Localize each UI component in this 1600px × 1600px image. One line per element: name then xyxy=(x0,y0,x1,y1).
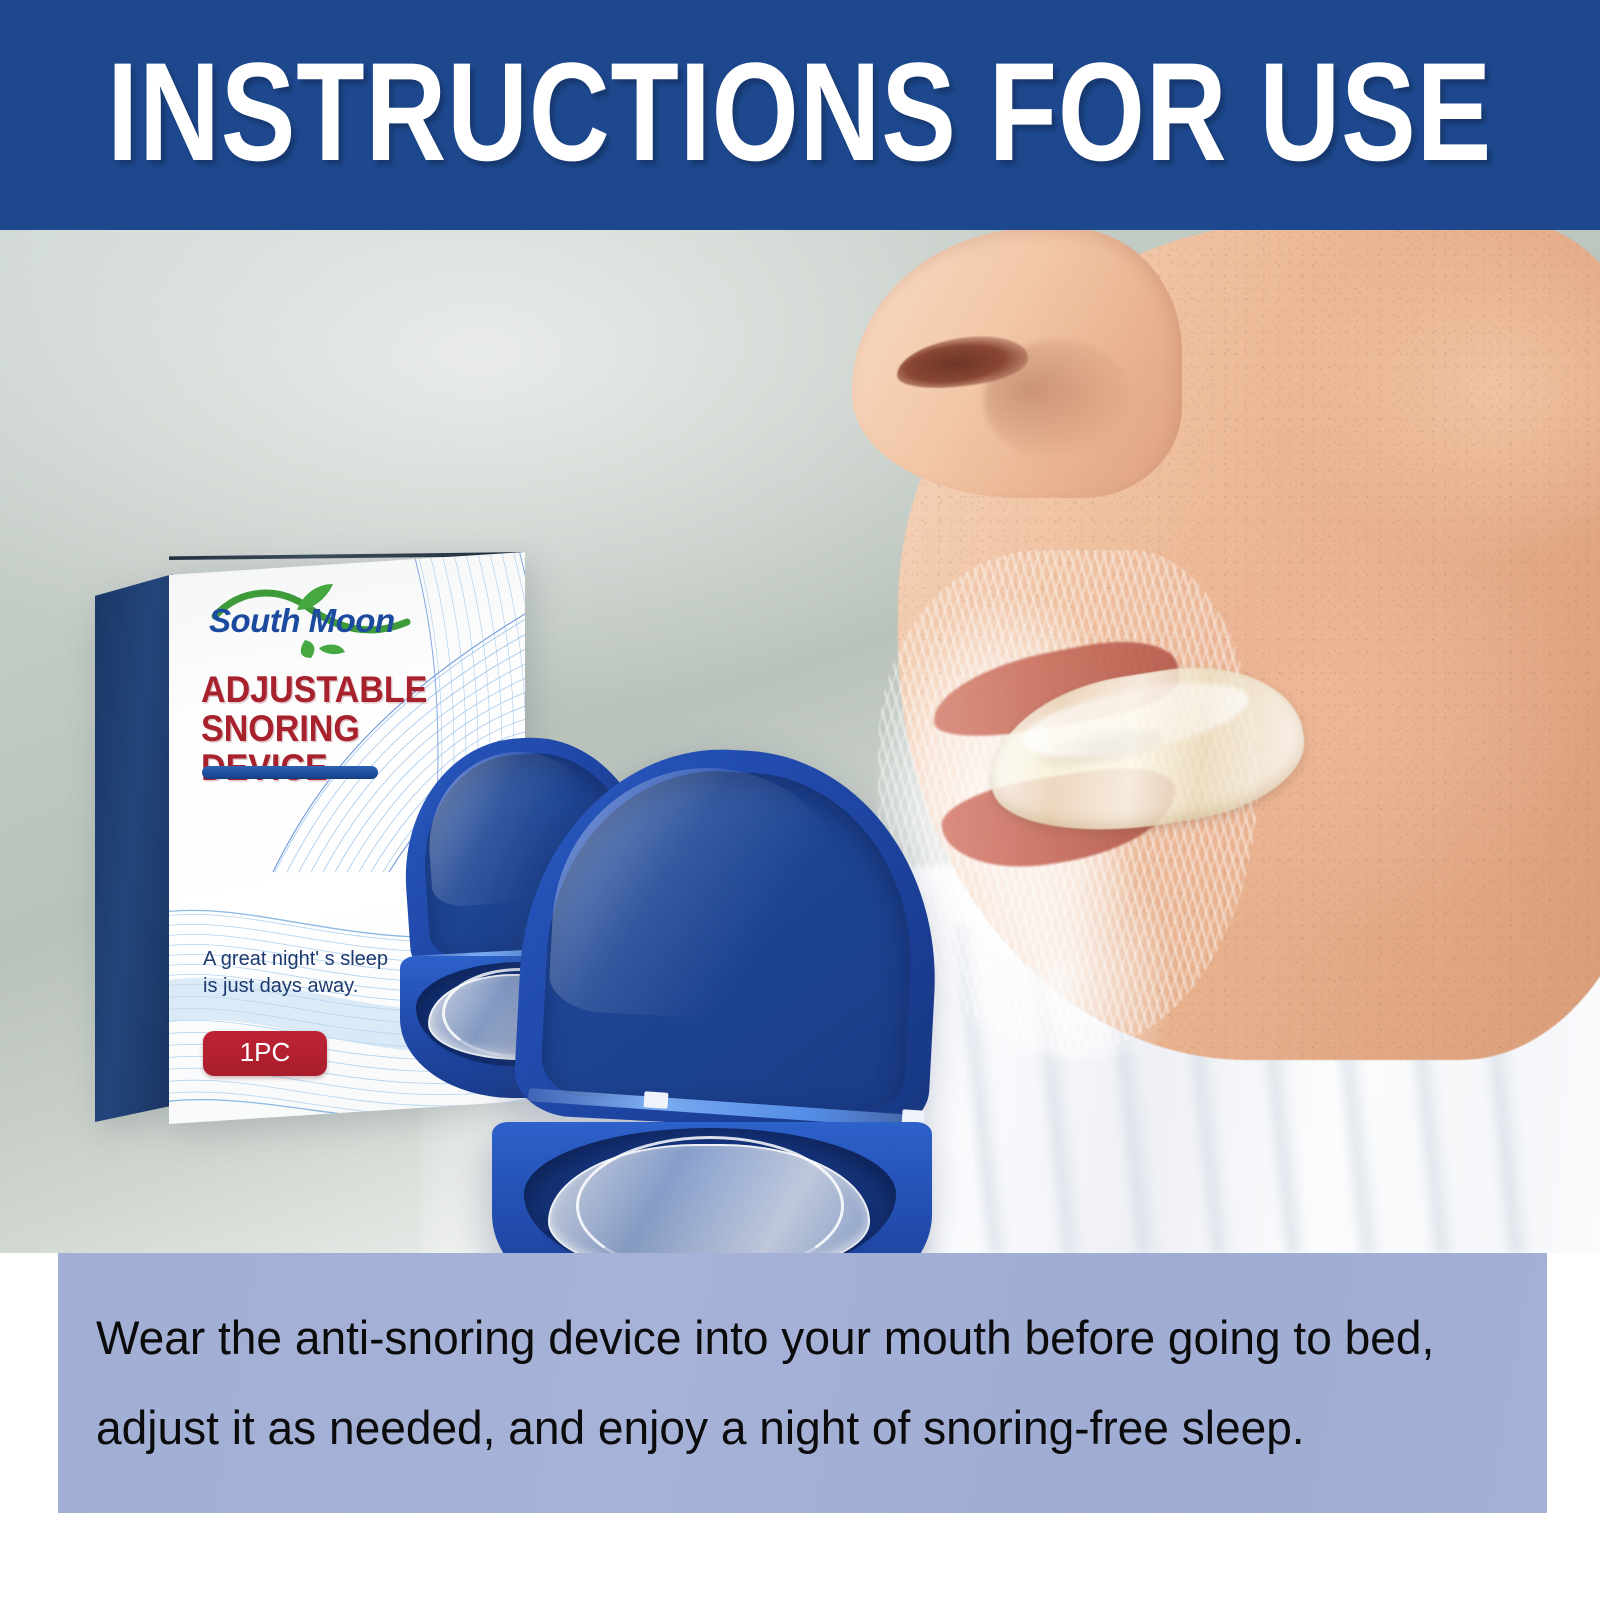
instructions-header-banner: INSTRUCTIONS FOR USE xyxy=(0,0,1600,230)
caption-line-2: adjust it as needed, and enjoy a night o… xyxy=(96,1383,1481,1473)
box-side-panel xyxy=(95,574,173,1122)
box-tagline: A great night' s sleep is just days away… xyxy=(203,946,403,1000)
product-photo: South Moon ADJUSTABLE SNORING DEVICE A g… xyxy=(0,230,1600,1253)
caption-line-1: Wear the anti-snoring device into your m… xyxy=(96,1293,1481,1383)
quantity-badge: 1PC xyxy=(203,1031,327,1076)
box-title-underline xyxy=(202,766,378,779)
mouthguard-case-front xyxy=(492,750,962,1253)
case-hinge-tab xyxy=(643,1091,668,1109)
page-title: INSTRUCTIONS FOR USE xyxy=(108,42,1493,182)
brand-logo: South Moon xyxy=(201,582,421,658)
brand-name: South Moon xyxy=(209,602,395,640)
instruction-caption-panel: Wear the anti-snoring device into your m… xyxy=(58,1253,1547,1513)
